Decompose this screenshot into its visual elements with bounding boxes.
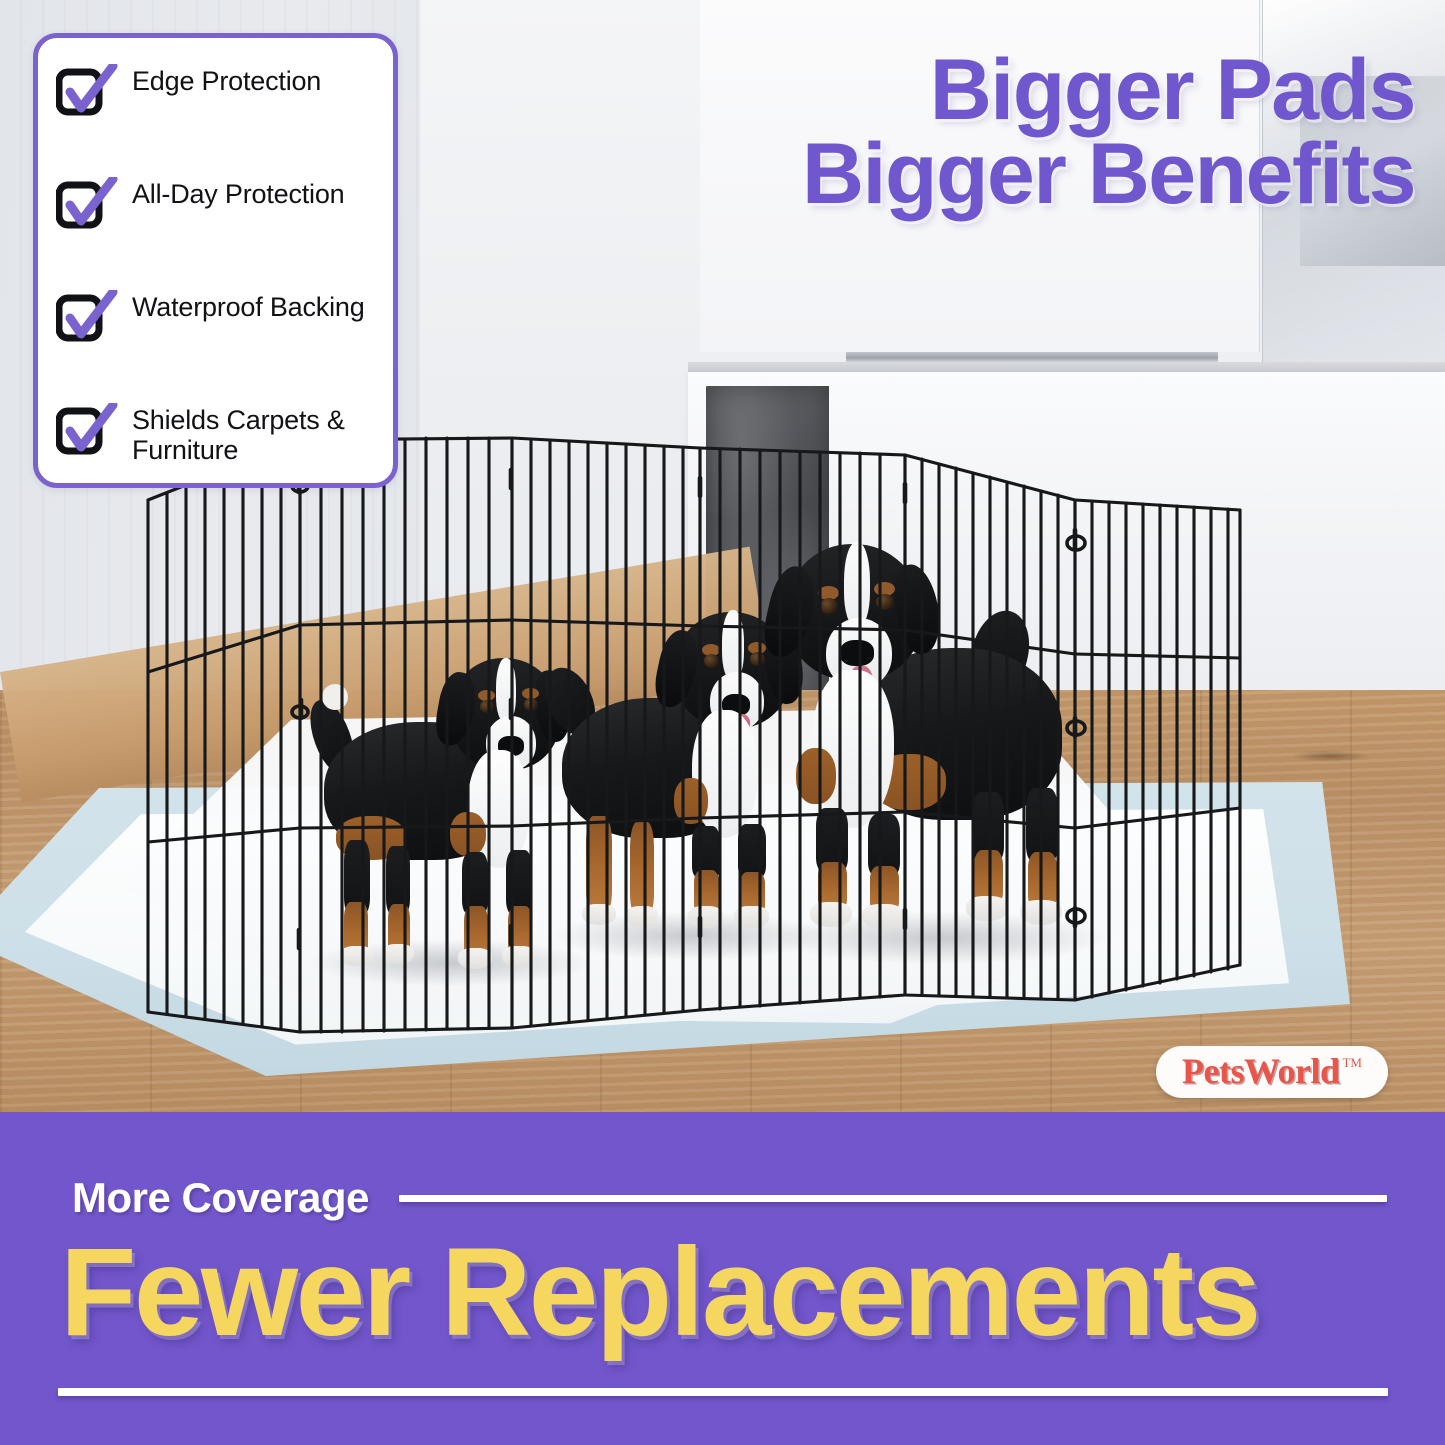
checkbox-check-icon: [56, 290, 118, 348]
feature-item-edge-protection: Edge Protection: [56, 64, 377, 122]
banner-eyebrow-row: More Coverage: [72, 1174, 1387, 1222]
trademark-symbol: TM: [1342, 1055, 1362, 1071]
feature-item-all-day-protection: All-Day Protection: [56, 177, 377, 235]
feature-label: Edge Protection: [132, 64, 321, 96]
feature-list-card: Edge Protection All-Day Protection Water…: [33, 33, 398, 488]
checkbox-check-icon: [56, 177, 118, 235]
bottom-banner: More Coverage Fewer Replacements: [0, 1112, 1445, 1445]
banner-eyebrow-text: More Coverage: [72, 1174, 369, 1222]
banner-divider-rule-bottom: [58, 1388, 1388, 1396]
brand-logo: PetsWorld TM: [1156, 1046, 1388, 1098]
dog-right: [760, 530, 1120, 990]
banner-divider-rule-top: [399, 1195, 1387, 1202]
feature-label: Shields Carpets & Furniture: [132, 403, 377, 465]
feature-label: All-Day Protection: [132, 177, 344, 209]
product-advertisement: PetsWorld TM Bigger Pads Bigger Benefits…: [0, 0, 1445, 1445]
feature-item-waterproof-backing: Waterproof Backing: [56, 290, 377, 348]
checkbox-check-icon: [56, 403, 118, 461]
brand-name: PetsWorld: [1182, 1053, 1339, 1089]
banner-headline: Fewer Replacements: [60, 1230, 1400, 1355]
glass-shelf: [846, 352, 1218, 362]
page-title: Bigger Pads Bigger Benefits: [430, 48, 1415, 217]
feature-item-shields-carpets-furniture: Shields Carpets & Furniture: [56, 403, 377, 465]
headline-line-1: Bigger Pads: [930, 42, 1415, 138]
feature-label: Waterproof Backing: [132, 290, 365, 322]
checkbox-check-icon: [56, 64, 118, 122]
headline-line-2: Bigger Benefits: [430, 132, 1415, 216]
